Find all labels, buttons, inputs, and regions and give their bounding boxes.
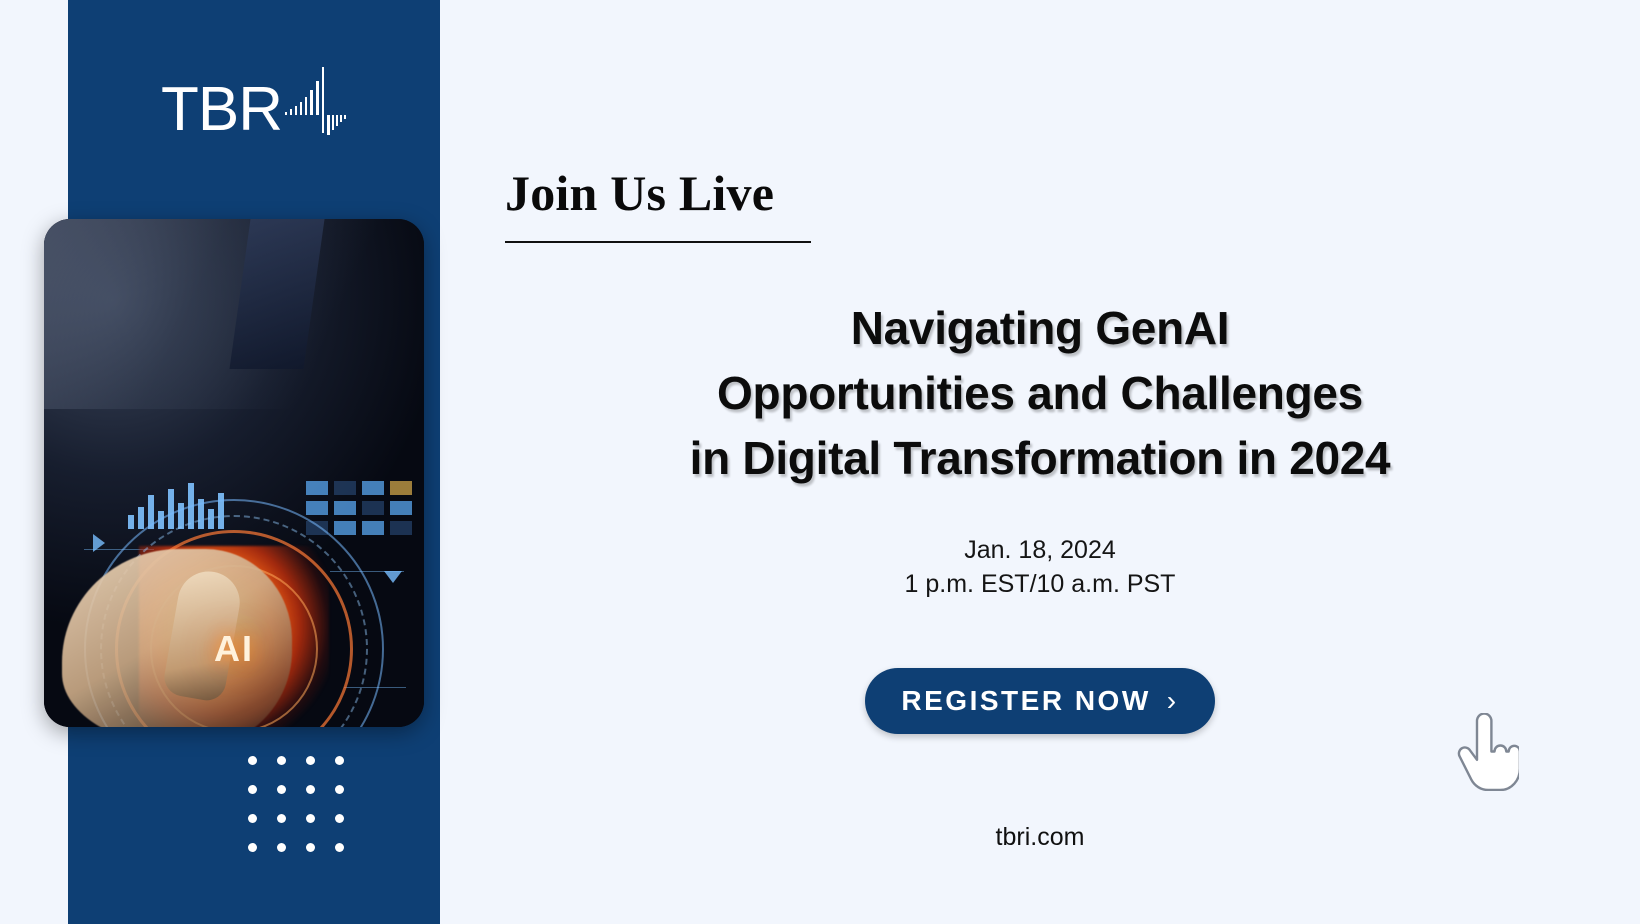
pulse-wave-mark-icon	[285, 63, 347, 135]
grid-dot	[248, 785, 257, 794]
event-date: Jan. 18, 2024	[440, 533, 1640, 567]
grid-dot	[335, 756, 344, 765]
grid-dot	[277, 814, 286, 823]
overlay-tile	[362, 481, 384, 495]
title-line-3: in Digital Transformation in 2024	[440, 426, 1640, 491]
pointing-hand-cursor-icon	[1455, 713, 1519, 791]
grid-dot	[306, 785, 315, 794]
grid-dot	[248, 814, 257, 823]
grid-dot	[306, 814, 315, 823]
image-triangle-marker	[93, 534, 105, 552]
overlay-tile	[334, 501, 356, 515]
register-now-label: REGISTER NOW	[901, 685, 1150, 717]
title-line-1: Navigating GenAI	[440, 296, 1640, 361]
grid-dot	[335, 785, 344, 794]
left-brand-panel: TBR	[68, 0, 440, 924]
overlay-tile	[390, 481, 412, 495]
overlay-tile	[362, 521, 384, 535]
title-line-2: Opportunities and Challenges	[440, 361, 1640, 426]
grid-dot	[277, 756, 286, 765]
grid-dot	[306, 756, 315, 765]
event-datetime: Jan. 18, 2024 1 p.m. EST/10 a.m. PST	[440, 533, 1640, 601]
content-panel: Join Us Live Navigating GenAI Opportunit…	[440, 0, 1640, 924]
register-now-button[interactable]: REGISTER NOW ›	[865, 668, 1215, 734]
eyebrow-heading: Join Us Live	[505, 166, 774, 220]
image-triangle-marker	[384, 571, 402, 583]
dot-grid-decoration	[248, 756, 364, 872]
eyebrow-divider	[505, 241, 811, 243]
grid-dot	[277, 785, 286, 794]
ai-technology-image-card: AI	[44, 219, 424, 727]
overlay-tile	[390, 521, 412, 535]
overlay-tile	[306, 481, 328, 495]
overlay-bar	[138, 507, 144, 529]
grid-dot	[306, 843, 315, 852]
image-suit-shape	[44, 219, 424, 409]
overlay-tile	[334, 481, 356, 495]
chevron-right-icon: ›	[1167, 687, 1179, 715]
grid-dot	[277, 843, 286, 852]
overlay-tile	[306, 501, 328, 515]
image-ai-label: AI	[214, 628, 254, 670]
page-title: Navigating GenAI Opportunities and Chall…	[440, 296, 1640, 491]
eyebrow-wrapper: Join Us Live	[505, 166, 774, 220]
overlay-bar	[128, 515, 134, 529]
grid-dot	[248, 843, 257, 852]
overlay-tile	[390, 501, 412, 515]
overlay-tile	[334, 521, 356, 535]
grid-dot	[335, 843, 344, 852]
event-time: 1 p.m. EST/10 a.m. PST	[440, 567, 1640, 601]
logo-wordmark: TBR	[161, 79, 282, 141]
grid-dot	[248, 756, 257, 765]
grid-dot	[335, 814, 344, 823]
overlay-tile	[362, 501, 384, 515]
tbr-logo: TBR	[68, 52, 440, 152]
footer-website: tbri.com	[440, 823, 1640, 852]
